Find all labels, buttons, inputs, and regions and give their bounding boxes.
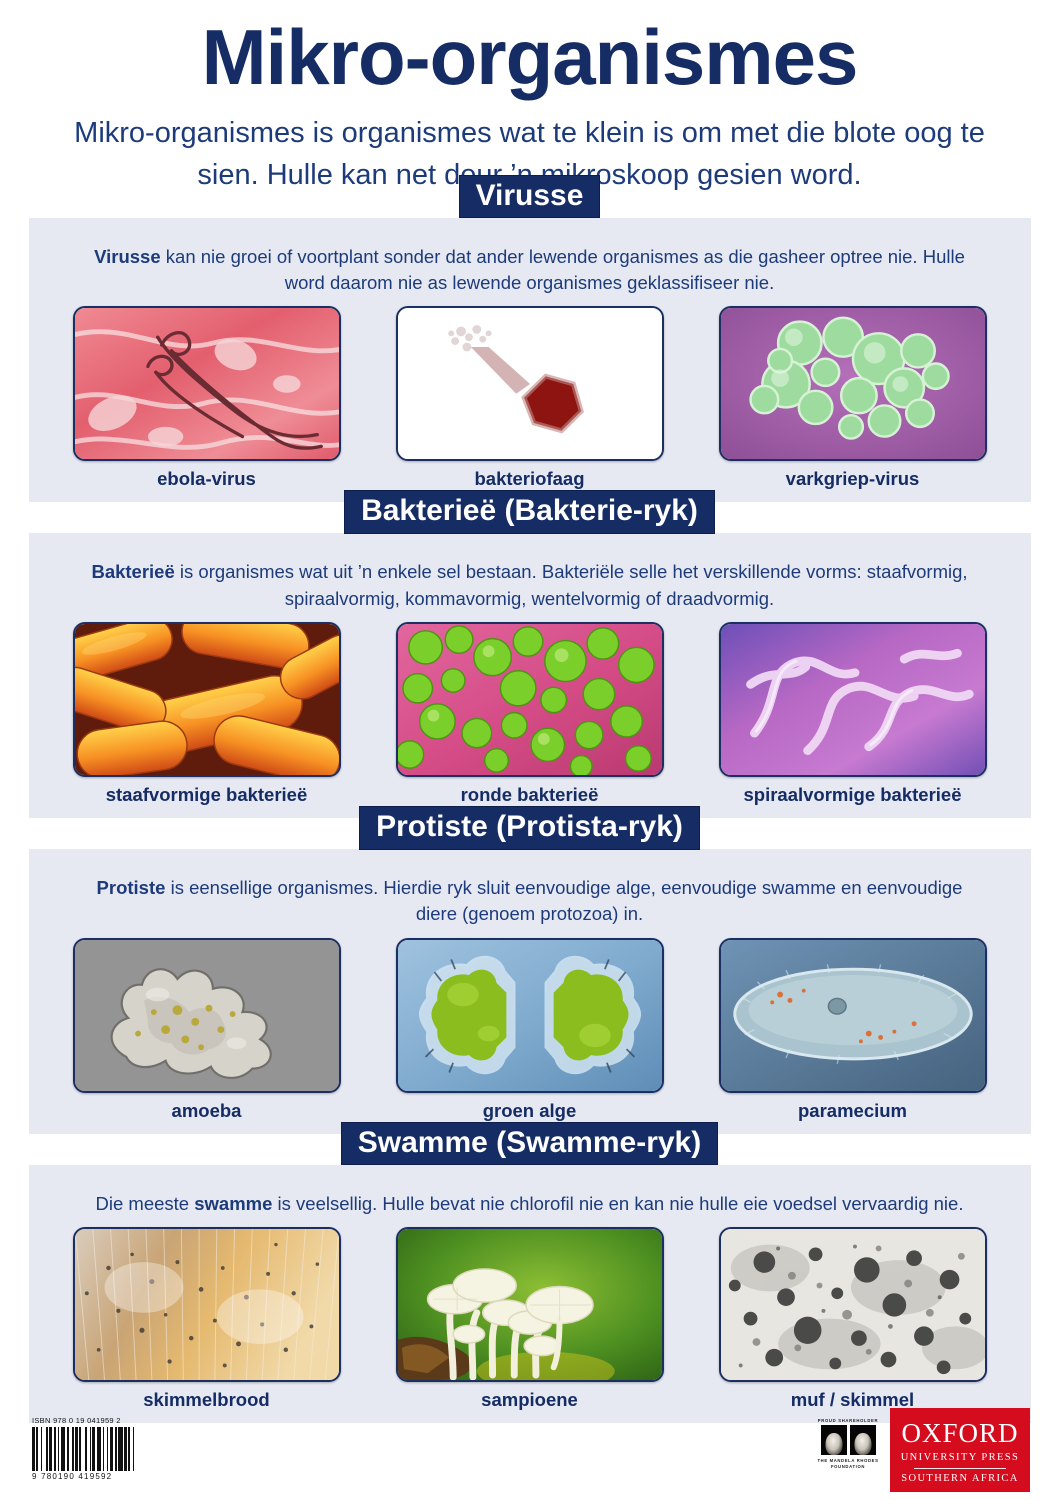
mouldy-bread-photo bbox=[73, 1227, 341, 1382]
section-badge-wrap: Protiste (Protista-ryk) bbox=[29, 827, 1031, 849]
section-bakteriee: Bakterieë (Bakterie-ryk) Bakterieë is or… bbox=[29, 511, 1031, 818]
description-keyword: Bakterieë bbox=[91, 561, 174, 582]
section-heading-protiste: Protiste (Protista-ryk) bbox=[359, 806, 700, 850]
card-label: staafvormige bakterieë bbox=[73, 784, 341, 806]
card-staafvormige-bakteriee[interactable]: staafvormige bakterieë bbox=[73, 622, 341, 806]
oup-wordmark: OXFORD bbox=[890, 1420, 1030, 1447]
section-panel-swamme: Die meeste swamme is veelsellig. Hulle b… bbox=[29, 1165, 1031, 1423]
section-badge-wrap: Virusse bbox=[29, 196, 1031, 218]
section-description-virusse: Virusse kan nie groei of voortplant sond… bbox=[51, 244, 1009, 307]
description-body: kan nie groei of voortplant sonder dat a… bbox=[161, 246, 965, 293]
card-ronde-bakteriee[interactable]: ronde bakterieë bbox=[396, 622, 664, 806]
isbn-barcode-block: ISBN 978 0 19 041959 2 9 780190 419592 bbox=[32, 1416, 136, 1481]
bacteriophage-micrograph bbox=[396, 306, 664, 461]
card-ebola-virus[interactable]: ebola-virus bbox=[73, 306, 341, 490]
section-heading-virusse: Virusse bbox=[459, 175, 601, 219]
oxford-university-press-logo: OXFORD UNIVERSITY PRESS SOUTHERN AFRICA bbox=[890, 1408, 1030, 1492]
oup-subtitle-southern-africa: SOUTHERN AFRICA bbox=[890, 1473, 1030, 1484]
description-body: is veelsellig. Hulle bevat nie chlorofil… bbox=[272, 1193, 963, 1214]
ebola-virus-micrograph bbox=[73, 306, 341, 461]
card-label: ronde bakterieë bbox=[396, 784, 664, 806]
card-skimmelbrood[interactable]: skimmelbrood bbox=[73, 1227, 341, 1411]
oup-subtitle-university-press: UNIVERSITY PRESS bbox=[890, 1452, 1030, 1463]
paramecium-micrograph bbox=[719, 938, 987, 1093]
section-heading-bakteriee: Bakterieë (Bakterie-ryk) bbox=[344, 490, 715, 534]
mandela-portrait-icon bbox=[821, 1425, 847, 1455]
swine-flu-virus-micrograph bbox=[719, 306, 987, 461]
card-row-bakteriee: staafvormige bakterieë bbox=[51, 622, 1009, 806]
isbn-text: ISBN 978 0 19 041959 2 bbox=[32, 1416, 136, 1425]
poster-root: Mikro-organismes Mikro-organismes is org… bbox=[0, 0, 1059, 1500]
rod-shaped-bacteria-micrograph bbox=[73, 622, 341, 777]
page-title: Mikro-organismes bbox=[0, 18, 1059, 98]
section-description-swamme: Die meeste swamme is veelsellig. Hulle b… bbox=[51, 1191, 1009, 1227]
description-keyword: swamme bbox=[194, 1193, 272, 1214]
description-keyword: Protiste bbox=[97, 877, 166, 898]
card-label: amoeba bbox=[73, 1100, 341, 1122]
mrf-tagline-top: PROUD SHAREHOLDER bbox=[812, 1418, 884, 1423]
card-row-protiste: amoeba bbox=[51, 938, 1009, 1122]
card-label: varkgriep-virus bbox=[719, 468, 987, 490]
section-description-bakteriee: Bakterieë is organismes wat uit ’n enkel… bbox=[51, 559, 1009, 622]
poster-footer: ISBN 978 0 19 041959 2 9 780190 419592 P… bbox=[0, 1404, 1059, 1500]
card-muf-skimmel[interactable]: muf / skimmel bbox=[719, 1227, 987, 1411]
card-varkgriep-virus[interactable]: varkgriep-virus bbox=[719, 306, 987, 490]
section-swamme: Swamme (Swamme-ryk) Die meeste swamme is… bbox=[29, 1143, 1031, 1423]
card-label: groen alge bbox=[396, 1100, 664, 1122]
section-description-protiste: Protiste is eensellige organismes. Hierd… bbox=[51, 875, 1009, 938]
poster-header: Mikro-organismes Mikro-organismes is org… bbox=[0, 0, 1059, 196]
card-label: spiraalvormige bakterieë bbox=[719, 784, 987, 806]
card-row-virusse: ebola-virus bbox=[51, 306, 1009, 490]
card-label: ebola-virus bbox=[73, 468, 341, 490]
card-label: paramecium bbox=[719, 1100, 987, 1122]
description-prefix: Die meeste bbox=[96, 1193, 195, 1214]
card-paramecium[interactable]: paramecium bbox=[719, 938, 987, 1122]
mushrooms-photo bbox=[396, 1227, 664, 1382]
section-badge-wrap: Swamme (Swamme-ryk) bbox=[29, 1143, 1031, 1165]
mandela-rhodes-foundation-logo: PROUD SHAREHOLDER THE MANDELA RHODES FOU… bbox=[812, 1418, 884, 1471]
card-spiraalvormige-bakteriee[interactable]: spiraalvormige bakterieë bbox=[719, 622, 987, 806]
section-protiste: Protiste (Protista-ryk) Protiste is eens… bbox=[29, 827, 1031, 1134]
section-virusse: Virusse Virusse kan nie groei of voortpl… bbox=[29, 196, 1031, 503]
section-heading-swamme: Swamme (Swamme-ryk) bbox=[341, 1122, 718, 1166]
card-amoeba[interactable]: amoeba bbox=[73, 938, 341, 1122]
mould-micrograph bbox=[719, 1227, 987, 1382]
spiral-bacteria-micrograph bbox=[719, 622, 987, 777]
section-panel-virusse: Virusse kan nie groei of voortplant sond… bbox=[29, 218, 1031, 503]
card-groen-alge[interactable]: groen alge bbox=[396, 938, 664, 1122]
rhodes-portrait-icon bbox=[850, 1425, 876, 1455]
description-keyword: Virusse bbox=[94, 246, 161, 267]
description-body: is organismes wat uit ’n enkele sel best… bbox=[175, 561, 968, 608]
barcode-digits: 9 780190 419592 bbox=[32, 1472, 136, 1481]
green-algae-micrograph bbox=[396, 938, 664, 1093]
mrf-portraits bbox=[812, 1425, 884, 1455]
description-body: is eensellige organismes. Hierdie ryk sl… bbox=[165, 877, 962, 924]
section-badge-wrap: Bakterieë (Bakterie-ryk) bbox=[29, 511, 1031, 533]
card-sampioene[interactable]: sampioene bbox=[396, 1227, 664, 1411]
amoeba-micrograph bbox=[73, 938, 341, 1093]
mrf-name-text: THE MANDELA RHODES FOUNDATION bbox=[812, 1458, 884, 1471]
card-bakteriofaag[interactable]: bakteriofaag bbox=[396, 306, 664, 490]
oup-divider bbox=[914, 1468, 1006, 1469]
round-bacteria-micrograph bbox=[396, 622, 664, 777]
card-label: bakteriofaag bbox=[396, 468, 664, 490]
card-row-swamme: skimmelbrood bbox=[51, 1227, 1009, 1411]
section-panel-protiste: Protiste is eensellige organismes. Hierd… bbox=[29, 849, 1031, 1134]
section-panel-bakteriee: Bakterieë is organismes wat uit ’n enkel… bbox=[29, 533, 1031, 818]
barcode-bars bbox=[32, 1427, 136, 1471]
